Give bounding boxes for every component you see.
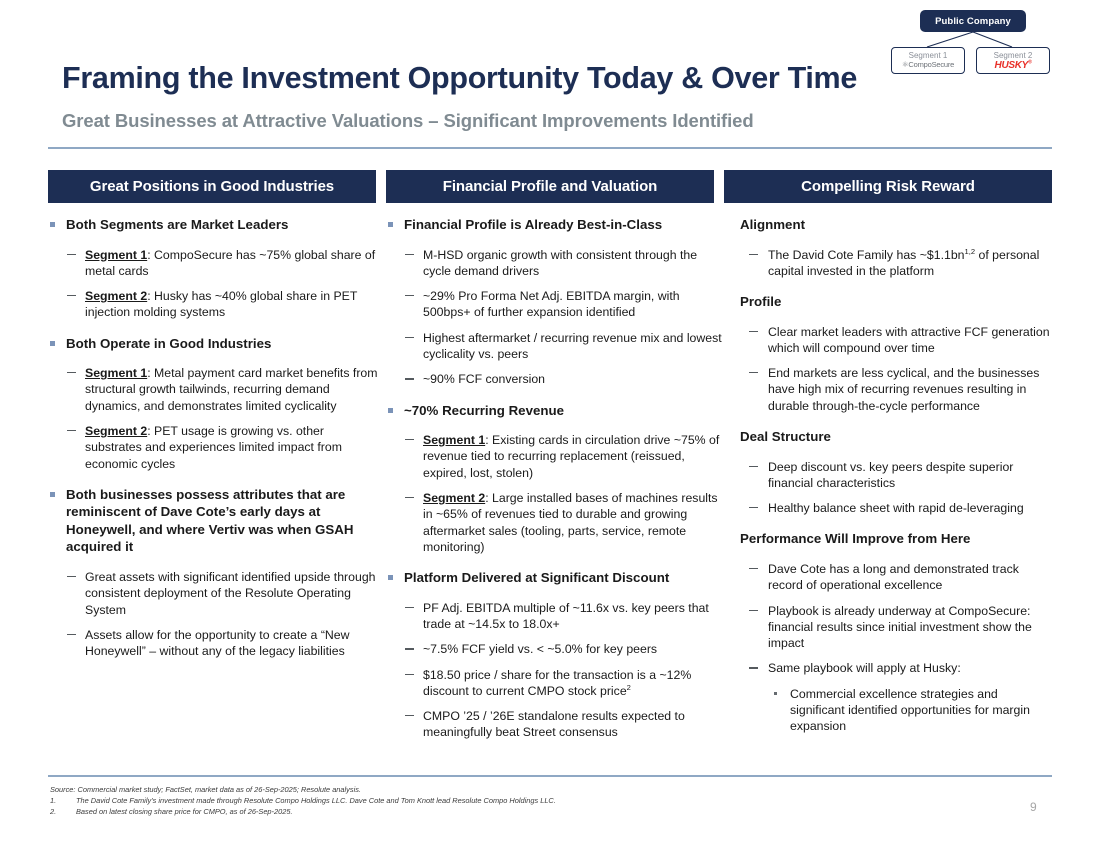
bullet-text: Highest aftermarket / recurring revenue …	[423, 331, 722, 361]
bullet-text: Deal Structure	[740, 429, 831, 444]
bullet-level-1: Financial Profile is Already Best-in-Cla…	[386, 216, 724, 234]
square-bullet-icon	[50, 222, 55, 227]
bullet-text: Both Segments are Market Leaders	[66, 217, 288, 232]
bullet-level-2: Highest aftermarket / recurring revenue …	[386, 330, 724, 363]
bullet-text: Great assets with significant identified…	[85, 570, 376, 617]
dash-bullet-icon	[749, 254, 758, 255]
square-bullet-icon	[388, 408, 393, 413]
dash-bullet-icon	[405, 254, 414, 255]
footnote-source: Source: Commercial market study; FactSet…	[50, 784, 990, 795]
bullet-lead-label: Segment 2	[85, 289, 147, 303]
bullet-text: Profile	[740, 294, 781, 309]
column-header-3: Compelling Risk Reward	[724, 170, 1052, 203]
org-structure-mark: Public Company Segment 1 ⚛CompoSecure Se…	[884, 8, 1084, 72]
bullet-level-2: ~7.5% FCF yield vs. < ~5.0% for key peer…	[386, 641, 724, 657]
husky-logo: HUSKY®	[995, 60, 1032, 71]
bullet-level-1: Platform Delivered at Significant Discou…	[386, 569, 724, 587]
bullet-text: Platform Delivered at Significant Discou…	[404, 570, 669, 585]
dash-bullet-icon	[405, 378, 414, 379]
bullet-text: The David Cote Family has ~$1.1bn	[768, 248, 965, 262]
bullet-level-2: Segment 2: Husky has ~40% global share i…	[48, 288, 384, 321]
bullet-level-1: Profile	[740, 293, 1052, 311]
dash-bullet-icon	[405, 337, 414, 338]
bullet-text: ~7.5% FCF yield vs. < ~5.0% for key peer…	[423, 642, 657, 656]
page-number: 9	[1030, 800, 1037, 814]
footnote-1-number: 1.	[50, 795, 76, 806]
page-title: Framing the Investment Opportunity Today…	[62, 60, 962, 96]
segment-2-label: Segment 2	[994, 51, 1033, 60]
dash-bullet-icon	[405, 648, 414, 649]
bullet-text: Both Operate in Good Industries	[66, 336, 271, 351]
dash-bullet-icon	[405, 295, 414, 296]
column-header-1: Great Positions in Good Industries	[48, 170, 376, 203]
dash-bullet-icon	[405, 439, 414, 440]
dash-bullet-icon	[67, 576, 76, 577]
bullet-level-1: Deal Structure	[740, 428, 1052, 446]
bullet-level-2: Segment 2: Large installed bases of mach…	[386, 490, 724, 555]
bullet-text: Deep discount vs. key peers despite supe…	[768, 460, 1013, 490]
bullet-level-2: Segment 1: Metal payment card market ben…	[48, 365, 384, 414]
bullet-text: Clear market leaders with attractive FCF…	[768, 325, 1050, 355]
org-child-segment-1: Segment 1 ⚛CompoSecure	[891, 47, 965, 74]
bullet-level-2: Clear market leaders with attractive FCF…	[740, 324, 1052, 357]
bullet-text: ~90% FCF conversion	[423, 372, 545, 386]
bullet-level-1: Both Segments are Market Leaders	[48, 216, 384, 234]
bullet-level-2: Great assets with significant identified…	[48, 569, 384, 618]
bullet-level-2: ~90% FCF conversion	[386, 371, 724, 387]
bullet-lead-label: Segment 2	[85, 424, 147, 438]
bullet-text: M-HSD organic growth with consistent thr…	[423, 248, 697, 278]
column-body-2: Financial Profile is Already Best-in-Cla…	[386, 216, 724, 750]
bullet-level-3: Commercial excellence strategies and sig…	[740, 686, 1052, 735]
bullet-level-2: PF Adj. EBITDA multiple of ~11.6x vs. ke…	[386, 600, 724, 633]
bullet-level-2: Same playbook will apply at Husky:	[740, 660, 1052, 676]
bullet-lead-label: Segment 1	[85, 366, 147, 380]
page-subtitle: Great Businesses at Attractive Valuation…	[62, 109, 962, 133]
dash-bullet-icon	[67, 295, 76, 296]
square-bullet-icon	[388, 222, 393, 227]
bullet-level-2: Assets allow for the opportunity to crea…	[48, 627, 384, 660]
dash-bullet-icon	[67, 634, 76, 635]
bullet-level-1: ~70% Recurring Revenue	[386, 402, 724, 420]
slide: Public Company Segment 1 ⚛CompoSecure Se…	[0, 0, 1100, 849]
bullet-level-2: Deep discount vs. key peers despite supe…	[740, 459, 1052, 492]
footnote-marker: 2	[627, 683, 631, 692]
bullet-level-1: Both Operate in Good Industries	[48, 335, 384, 353]
dash-bullet-icon	[749, 667, 758, 668]
bullet-lead-label: Segment 1	[423, 433, 485, 447]
bullet-level-2: Healthy balance sheet with rapid de-leve…	[740, 500, 1052, 516]
bullet-text: End markets are less cyclical, and the b…	[768, 366, 1039, 413]
dash-bullet-icon	[67, 254, 76, 255]
dash-bullet-icon	[405, 715, 414, 716]
dash-bullet-icon	[405, 497, 414, 498]
bullet-level-2: End markets are less cyclical, and the b…	[740, 365, 1052, 414]
dash-bullet-icon	[749, 568, 758, 569]
column-body-1: Both Segments are Market LeadersSegment …	[48, 216, 384, 668]
bullet-text: Commercial excellence strategies and sig…	[790, 687, 1030, 734]
square-bullet-icon	[50, 341, 55, 346]
footnote-1: 1. The David Cote Family’s investment ma…	[50, 795, 990, 806]
bullet-level-2: ~29% Pro Forma Net Adj. EBITDA margin, w…	[386, 288, 724, 321]
footer-divider	[48, 775, 1052, 777]
bullet-text: Performance Will Improve from Here	[740, 531, 970, 546]
bullet-level-2: The David Cote Family has ~$1.1bn1,2 of …	[740, 247, 1052, 280]
bullet-text: ~70% Recurring Revenue	[404, 403, 564, 418]
bullet-text: Dave Cote has a long and demonstrated tr…	[768, 562, 1019, 592]
footnote-marker: 1,2	[965, 246, 976, 255]
bullet-level-2: CMPO ’25 / ’26E standalone results expec…	[386, 708, 724, 741]
square-bullet-icon	[388, 575, 393, 580]
bullet-text: $18.50 price / share for the transaction…	[423, 668, 691, 698]
dash-bullet-icon	[749, 372, 758, 373]
segment-1-label: Segment 1	[909, 51, 948, 60]
footnote-2-text: Based on latest closing share price for …	[76, 806, 293, 817]
bullet-level-2: $18.50 price / share for the transaction…	[386, 667, 724, 700]
composecure-logo: ⚛CompoSecure	[902, 60, 954, 70]
footnote-1-text: The David Cote Family’s investment made …	[76, 795, 556, 806]
bullet-lead-label: Segment 1	[85, 248, 147, 262]
dash-bullet-icon	[405, 607, 414, 608]
dash-bullet-icon	[749, 610, 758, 611]
title-divider	[48, 147, 1052, 149]
bullet-level-2: Segment 2: PET usage is growing vs. othe…	[48, 423, 384, 472]
bullet-level-2: M-HSD organic growth with consistent thr…	[386, 247, 724, 280]
bullet-level-1: Both businesses possess attributes that …	[48, 486, 384, 556]
dash-bullet-icon	[749, 507, 758, 508]
bullet-level-2: Segment 1: CompoSecure has ~75% global s…	[48, 247, 384, 280]
footnote-2-number: 2.	[50, 806, 76, 817]
square-bullet-icon	[50, 492, 55, 497]
dash-bullet-icon	[749, 466, 758, 467]
bullet-text: ~29% Pro Forma Net Adj. EBITDA margin, w…	[423, 289, 680, 319]
bullet-text: CMPO ’25 / ’26E standalone results expec…	[423, 709, 685, 739]
dash-bullet-icon	[405, 674, 414, 675]
dot-bullet-icon	[774, 692, 777, 695]
org-child-segment-2: Segment 2 HUSKY®	[976, 47, 1050, 74]
bullet-level-2: Segment 1: Existing cards in circulation…	[386, 432, 724, 481]
column-header-2: Financial Profile and Valuation	[386, 170, 714, 203]
bullet-text: Assets allow for the opportunity to crea…	[85, 628, 350, 658]
column-body-3: AlignmentThe David Cote Family has ~$1.1…	[740, 216, 1052, 744]
bullet-text: Same playbook will apply at Husky:	[768, 661, 961, 675]
dash-bullet-icon	[749, 331, 758, 332]
bullet-text: PF Adj. EBITDA multiple of ~11.6x vs. ke…	[423, 601, 709, 631]
bullet-text: Healthy balance sheet with rapid de-leve…	[768, 501, 1024, 515]
bullet-lead-label: Segment 2	[423, 491, 485, 505]
bullet-text: Alignment	[740, 217, 805, 232]
dash-bullet-icon	[67, 430, 76, 431]
dash-bullet-icon	[67, 372, 76, 373]
org-parent-node: Public Company	[920, 10, 1026, 32]
bullet-text: Financial Profile is Already Best-in-Cla…	[404, 217, 662, 232]
bullet-level-1: Alignment	[740, 216, 1052, 234]
bullet-level-2: Playbook is already underway at CompoSec…	[740, 603, 1052, 652]
bullet-text: Playbook is already underway at CompoSec…	[768, 604, 1032, 651]
footnotes: Source: Commercial market study; FactSet…	[50, 784, 990, 818]
bullet-text: Both businesses possess attributes that …	[66, 487, 353, 555]
bullet-level-1: Performance Will Improve from Here	[740, 530, 1052, 548]
bullet-level-2: Dave Cote has a long and demonstrated tr…	[740, 561, 1052, 594]
footnote-2: 2. Based on latest closing share price f…	[50, 806, 990, 817]
